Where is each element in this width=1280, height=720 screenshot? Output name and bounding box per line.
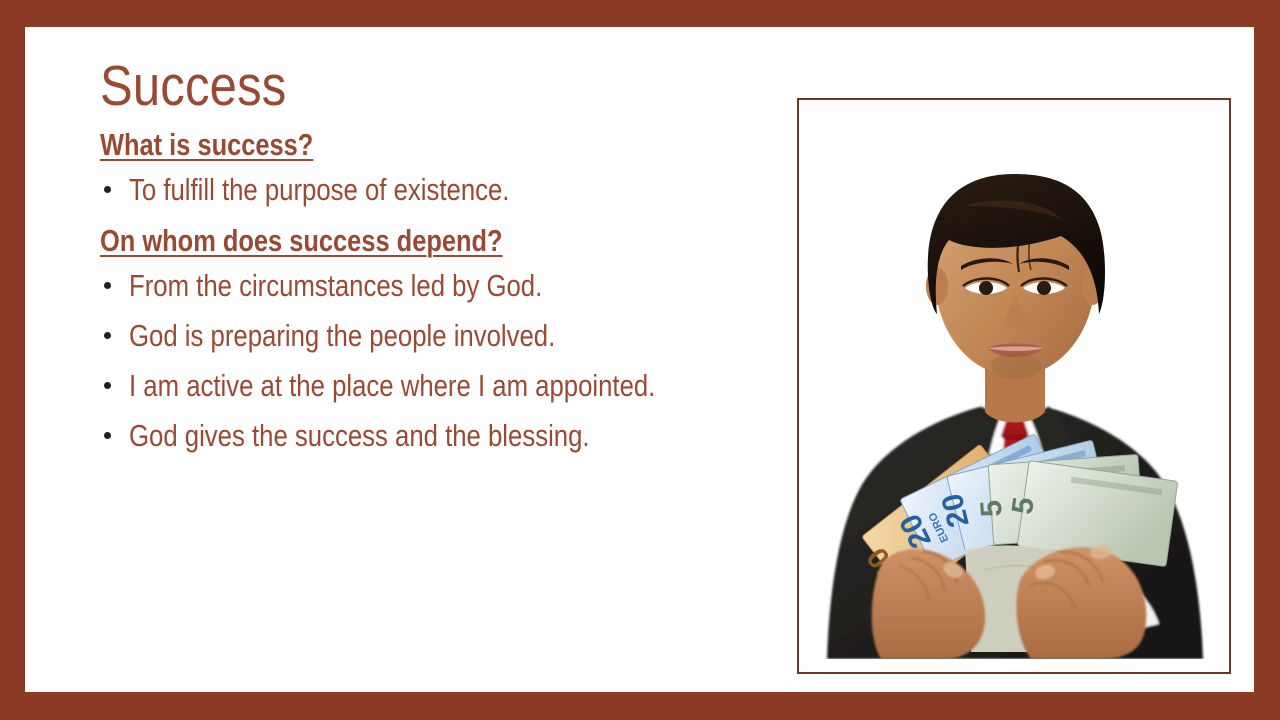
list-item-label: I am active at the place where I am appo…	[129, 365, 748, 406]
text-column: Success What is success? To fulfill the …	[100, 55, 750, 465]
list-item: God is preparing the people involved.	[100, 315, 750, 356]
page-title: Success	[100, 55, 659, 117]
bullet-dot-icon	[104, 382, 111, 389]
photo-frame: 50 20 EURO	[797, 98, 1231, 674]
photo-businessman-holding-euros: 50 20 EURO	[815, 100, 1215, 659]
list-item-label: To fulfill the purpose of existence.	[129, 169, 748, 210]
slide-canvas: Success What is success? To fulfill the …	[25, 27, 1254, 692]
list-item: I am active at the place where I am appo…	[100, 365, 750, 406]
presentation-slide: Success What is success? To fulfill the …	[0, 0, 1280, 720]
bullet-dot-icon	[104, 432, 111, 439]
list-item-label: From the circumstances led by God.	[129, 265, 748, 306]
list-item-label: God gives the success and the blessing.	[129, 415, 748, 456]
bullet-dot-icon	[104, 186, 111, 193]
bullet-dot-icon	[104, 332, 111, 339]
list-item-label: God is preparing the people involved.	[129, 315, 748, 356]
list-item: From the circumstances led by God.	[100, 265, 750, 306]
bullet-list-what-is-success: To fulfill the purpose of existence.	[100, 169, 750, 210]
section-heading-what-is-success: What is success?	[100, 123, 633, 167]
svg-text:5: 5	[975, 499, 1009, 518]
bullet-dot-icon	[104, 282, 111, 289]
bullet-list-success-depends: From the circumstances led by God. God i…	[100, 265, 750, 456]
list-item: To fulfill the purpose of existence.	[100, 169, 750, 210]
section-heading-on-whom-does-success-depend: On whom does success depend?	[100, 219, 633, 263]
list-item: God gives the success and the blessing.	[100, 415, 750, 456]
